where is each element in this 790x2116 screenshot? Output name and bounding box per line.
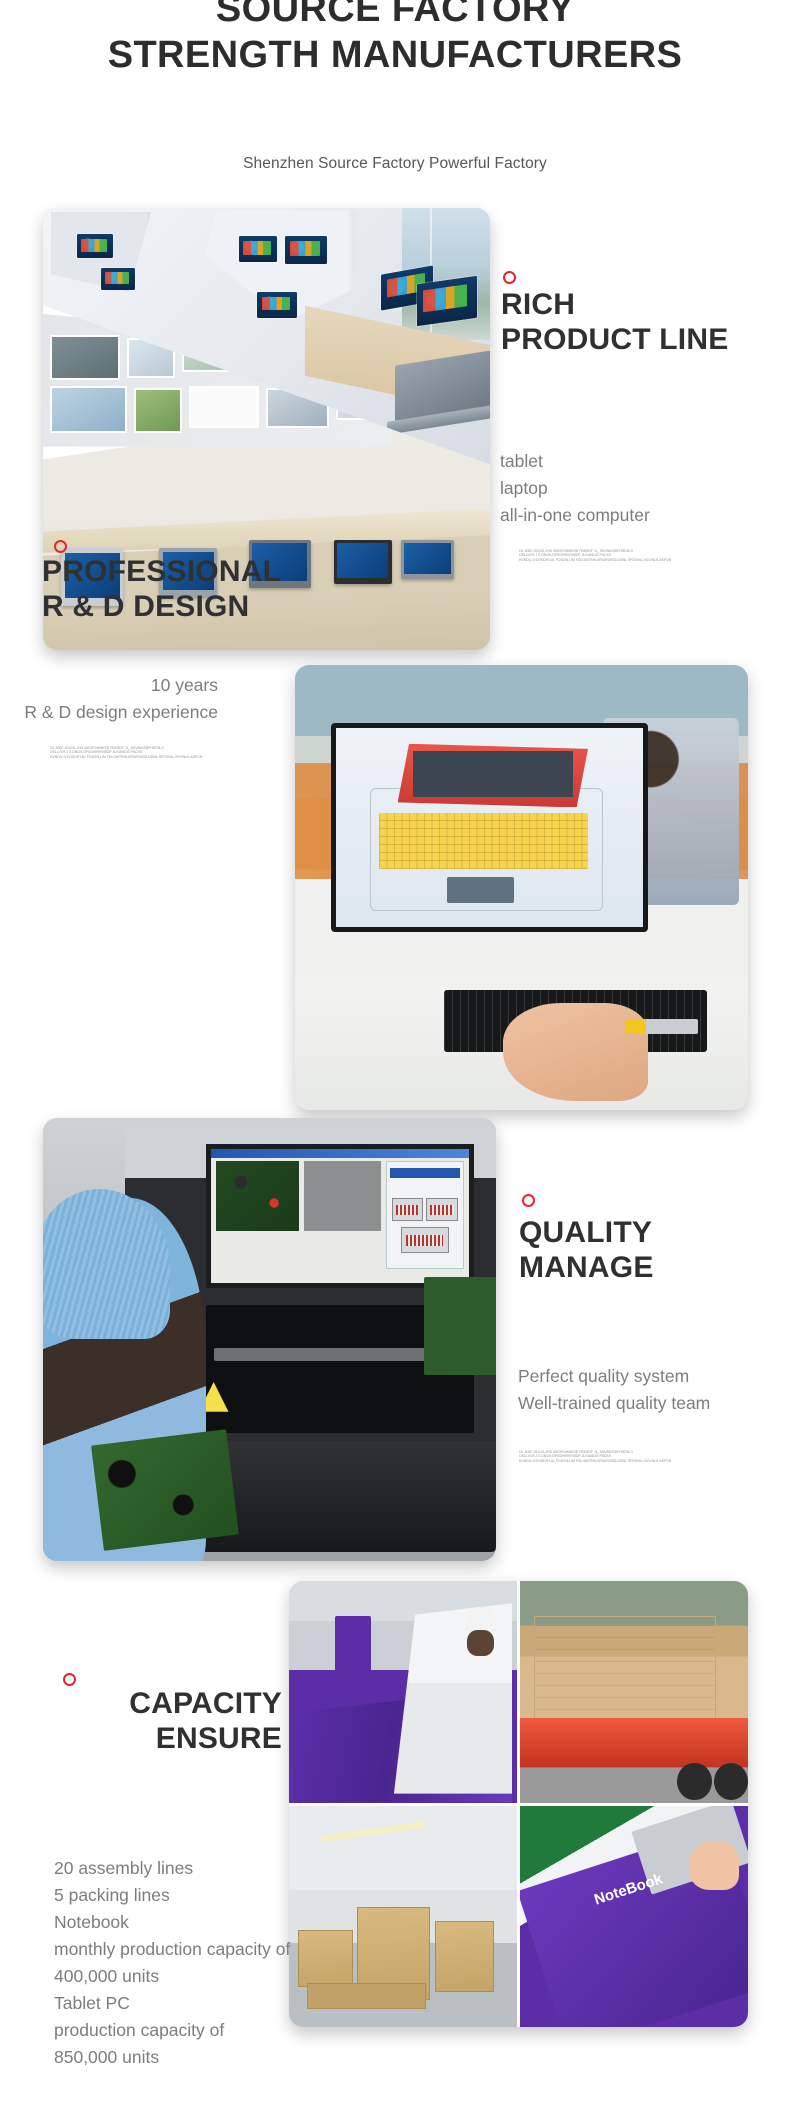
section-title-line1: QUALITY bbox=[519, 1215, 654, 1250]
wall-photo-1 bbox=[50, 335, 120, 380]
ceiling-lamp-icon bbox=[321, 1820, 426, 1841]
section-title-line1: RICH bbox=[501, 287, 728, 322]
cad-keyboard bbox=[379, 813, 588, 869]
filler-text-rd-design: OL,IKDF,JGLDS,JHG 0IKDFGHMKSD FBKSDF JL_… bbox=[50, 746, 202, 759]
photo-quality-manage bbox=[43, 1118, 496, 1561]
results-panel bbox=[386, 1161, 463, 1269]
cad-screen bbox=[336, 728, 643, 927]
display-laptop-4 bbox=[285, 236, 327, 264]
truck-wheel-2 bbox=[714, 1763, 748, 1801]
section-title-quality-manage: QUALITY MANAGE bbox=[519, 1215, 654, 1285]
display-laptop-2 bbox=[101, 268, 135, 290]
truck-wheel-1 bbox=[677, 1763, 711, 1801]
machine-front-panel bbox=[191, 1442, 496, 1553]
section-body-product-line: tablet laptop all-in-one computer bbox=[500, 448, 650, 529]
page-header: SOURCE FACTORY STRENGTH MANUFACTURERS bbox=[0, 0, 790, 78]
wall-photo-5 bbox=[134, 388, 183, 433]
photo-notebook-packaging: NoteBook bbox=[520, 1806, 748, 2028]
photo-loaded-truck bbox=[520, 1581, 748, 1803]
connector-thumb-3 bbox=[401, 1227, 449, 1252]
section-title-line2: MANAGE bbox=[519, 1250, 654, 1285]
wall-photo-6 bbox=[189, 386, 259, 428]
carton-stack-3 bbox=[435, 1921, 494, 1992]
pcb-on-table bbox=[424, 1277, 496, 1374]
wrapped-pallet bbox=[534, 1616, 716, 1722]
bullet-ring-icon-capacity-ensure bbox=[63, 1673, 76, 1686]
assembly-workers bbox=[394, 1603, 513, 1793]
inspection-software-screen bbox=[206, 1144, 473, 1289]
filler-text-quality-manage: OL,IKDF,JGLDS,JHG 0IKDFGHMKSD FBKSDF JL_… bbox=[519, 1450, 671, 1463]
window-titlebar bbox=[211, 1149, 468, 1158]
photo-rd-design bbox=[295, 665, 748, 1110]
display-tablet-1 bbox=[257, 292, 297, 318]
desktop-monitor bbox=[331, 723, 648, 932]
carton-stack-1 bbox=[298, 1930, 353, 1988]
bullet-ring-icon-rd-design bbox=[54, 540, 67, 553]
display-laptop-3 bbox=[239, 236, 277, 262]
pcb-in-hand bbox=[91, 1429, 239, 1551]
wall-photo-4 bbox=[50, 386, 127, 434]
bullet-ring-icon-product-line bbox=[503, 271, 516, 284]
display-laptop-1 bbox=[77, 234, 113, 258]
line-equipment-cabinet bbox=[335, 1616, 371, 1674]
counter-tablet-5 bbox=[401, 540, 455, 580]
page-title-line1: SOURCE FACTORY bbox=[0, 0, 790, 32]
section-title-line2: ENSURE bbox=[20, 1721, 282, 1756]
connector-thumb-2 bbox=[426, 1198, 458, 1221]
connector-thumb-1 bbox=[392, 1198, 424, 1221]
counter-tablet-4 bbox=[334, 540, 392, 584]
wooden-pallet bbox=[307, 1983, 426, 2010]
section-title-rd-design: PROFESSIONAL R & D DESIGN bbox=[42, 554, 227, 624]
section-title-capacity-ensure: CAPACITY ENSURE bbox=[20, 1686, 282, 1756]
cad-laptop-lid bbox=[398, 744, 588, 808]
page-subtitle: Shenzhen Source Factory Powerful Factory bbox=[0, 155, 790, 173]
photo-assembly-line bbox=[289, 1581, 517, 1803]
section-title-line1: PROFESSIONAL bbox=[42, 554, 227, 589]
cad-touchpad bbox=[447, 877, 515, 903]
photo-carton-warehouse bbox=[289, 1806, 517, 2028]
section-title-product-line: RICH PRODUCT LINE bbox=[501, 287, 728, 357]
section-body-quality-manage: Perfect quality system Well-trained qual… bbox=[518, 1363, 710, 1417]
pcb-camera-view bbox=[216, 1161, 298, 1231]
section-title-line1: CAPACITY bbox=[20, 1686, 282, 1721]
section-body-capacity-ensure: 20 assembly lines 5 packing lines Notebo… bbox=[54, 1855, 290, 2071]
packing-hand bbox=[689, 1841, 739, 1890]
empty-viewport bbox=[304, 1161, 381, 1231]
desk-laptop-2 bbox=[417, 276, 477, 326]
bullet-ring-icon-quality-manage bbox=[522, 1194, 535, 1207]
section-title-line2: R & D DESIGN bbox=[42, 589, 227, 624]
filler-text-product-line: OL,IKDF,JGLDS,JHG 0IKDFGHMKSD FBKSDF JL_… bbox=[519, 549, 671, 562]
truck-bed bbox=[520, 1718, 748, 1767]
photo-grid-capacity-ensure: NoteBook bbox=[289, 1581, 748, 2027]
section-title-line2: PRODUCT LINE bbox=[501, 322, 728, 357]
screwdriver-icon bbox=[626, 1019, 698, 1035]
section-body-rd-design: 10 years R & D design experience bbox=[10, 672, 218, 726]
hand-on-keyboard bbox=[503, 1003, 648, 1101]
page-title-line2: STRENGTH MANUFACTURERS bbox=[0, 32, 790, 78]
